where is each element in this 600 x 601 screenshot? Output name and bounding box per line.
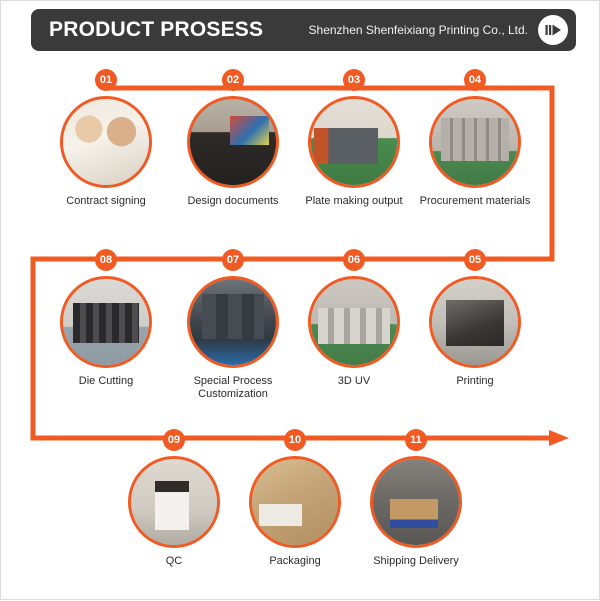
step-caption: Printing [410, 375, 540, 388]
packaging-photo [249, 456, 341, 548]
step-number-badge: 04 [464, 69, 486, 91]
special-process-photo [187, 276, 279, 368]
plate-making-photo [308, 96, 400, 188]
step-caption: Die Cutting [41, 375, 171, 388]
step-number-badge: 05 [464, 249, 486, 271]
step-caption: Packaging [230, 555, 360, 568]
step-caption: Plate making output [289, 195, 419, 208]
page-title: PRODUCT PROSESS [49, 18, 263, 42]
qc-photo [128, 456, 220, 548]
circle-play-forward-icon [538, 15, 568, 45]
step-number-badge: 11 [405, 429, 427, 451]
step-caption: 3D UV [289, 375, 419, 388]
process-row-3: 09 QC 10 Packaging 11 Shipping Delivery [1, 429, 600, 599]
shipping-delivery-photo [370, 456, 462, 548]
header-bar: PRODUCT PROSESS Shenzhen Shenfeixiang Pr… [31, 9, 576, 51]
step-caption: Special ProcessCustomization [168, 375, 298, 401]
step-number-badge: 08 [95, 249, 117, 271]
step-caption: Design documents [168, 195, 298, 208]
step-number-badge: 03 [343, 69, 365, 91]
procurement-materials-photo [429, 96, 521, 188]
infographic-page: PRODUCT PROSESS Shenzhen Shenfeixiang Pr… [0, 0, 600, 600]
step-number-badge: 09 [163, 429, 185, 451]
printing-photo [429, 276, 521, 368]
step-number-badge: 01 [95, 69, 117, 91]
3d-uv-photo [308, 276, 400, 368]
company-name: Shenzhen Shenfeixiang Printing Co., Ltd. [309, 23, 528, 37]
contract-signing-photo [60, 96, 152, 188]
step-caption: Shipping Delivery [351, 555, 481, 568]
step-number-badge: 06 [343, 249, 365, 271]
step-caption: QC [109, 555, 239, 568]
die-cutting-photo [60, 276, 152, 368]
process-row-1: 01 Contract signing 02 Design documents … [1, 69, 600, 239]
step-caption: Procurement materials [410, 195, 540, 208]
step-number-badge: 10 [284, 429, 306, 451]
step-number-badge: 02 [222, 69, 244, 91]
design-documents-photo [187, 96, 279, 188]
step-number-badge: 07 [222, 249, 244, 271]
process-row-2: 08 Die Cutting 07 Special ProcessCustomi… [1, 249, 600, 419]
step-caption: Contract signing [41, 195, 171, 208]
